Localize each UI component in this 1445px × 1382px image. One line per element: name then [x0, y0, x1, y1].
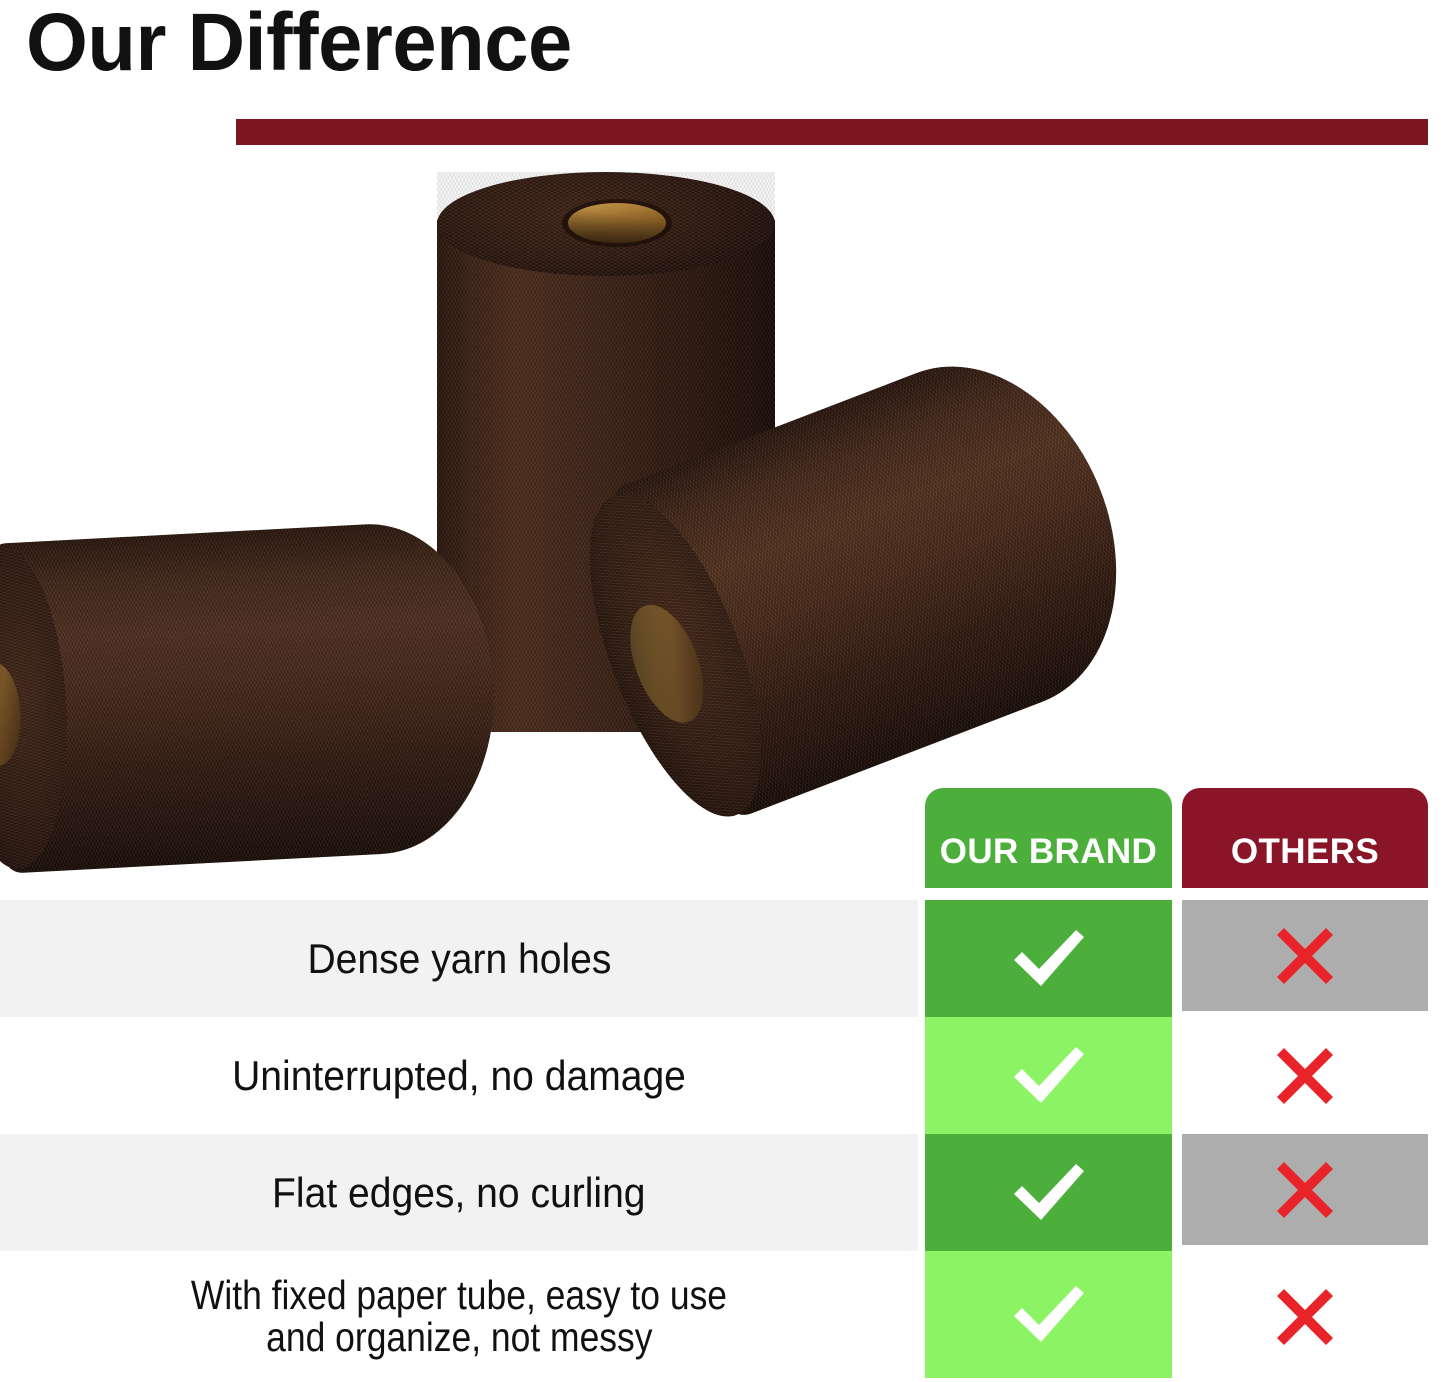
feature-label-cell: With fixed paper tube, easy to use and o… — [0, 1251, 918, 1382]
title-underline-rule — [236, 119, 1428, 145]
comparison-table: OUR BRAND OTHERS Dense yarn holes — [0, 788, 1445, 1382]
others-cell — [1182, 1134, 1428, 1245]
our-brand-cell — [925, 900, 1172, 1017]
check-icon — [1006, 924, 1092, 994]
others-cell — [1182, 900, 1428, 1011]
others-cell — [1182, 1017, 1428, 1134]
feature-label-text: Flat edges, no curling — [272, 1172, 645, 1214]
our-brand-cell — [925, 1251, 1172, 1378]
feature-label-line-2: and organize, not messy — [266, 1317, 652, 1359]
feature-label-text: With fixed paper tube, easy to use and o… — [171, 1275, 748, 1359]
cross-icon — [1272, 923, 1338, 989]
feature-label-text: Uninterrupted, no damage — [232, 1055, 686, 1097]
page-title: Our Difference — [26, 0, 572, 88]
roll-core-shadow — [568, 203, 666, 243]
others-cell — [1182, 1251, 1428, 1382]
feature-label-cell: Dense yarn holes — [0, 900, 918, 1017]
our-brand-cell — [925, 1134, 1172, 1251]
cross-icon — [1272, 1157, 1338, 1223]
cross-icon — [1272, 1284, 1338, 1350]
cross-icon — [1272, 1043, 1338, 1109]
check-icon — [1006, 1158, 1092, 1228]
check-icon — [1006, 1280, 1092, 1350]
table-row: Uninterrupted, no damage — [0, 1017, 1445, 1134]
table-row: With fixed paper tube, easy to use and o… — [0, 1251, 1445, 1382]
feature-label-cell: Uninterrupted, no damage — [0, 1017, 918, 1134]
our-brand-cell — [925, 1017, 1172, 1134]
feature-label-cell: Flat edges, no curling — [0, 1134, 918, 1251]
check-icon — [1006, 1041, 1092, 1111]
product-photo — [0, 150, 1445, 890]
feature-label-line-1: With fixed paper tube, easy to use — [191, 1275, 727, 1317]
infographic-page: Our Difference — [0, 0, 1445, 1382]
column-header-others: OTHERS — [1182, 788, 1428, 888]
table-row: Flat edges, no curling — [0, 1134, 1445, 1251]
column-header-our-brand-label: OUR BRAND — [940, 832, 1157, 872]
feature-label-text: Dense yarn holes — [307, 938, 611, 980]
column-header-our-brand: OUR BRAND — [925, 788, 1172, 888]
table-row: Dense yarn holes — [0, 900, 1445, 1017]
column-header-others-label: OTHERS — [1231, 832, 1379, 872]
